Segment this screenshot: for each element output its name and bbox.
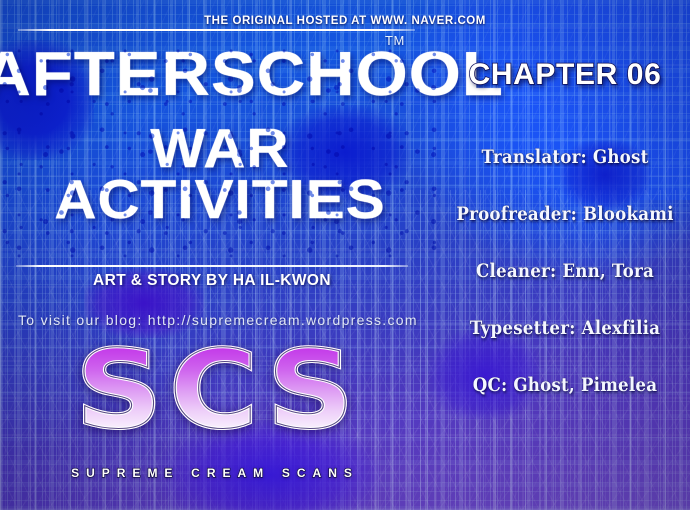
title-line-2: WAR ACTIVITIES — [0, 123, 453, 224]
credit-qc: QC: Ghost, Pimelea — [455, 374, 675, 396]
title-line-1: AFTERSCHOOL — [0, 46, 458, 103]
scs-logo-initials: SCS — [0, 332, 453, 452]
credit-proofreader: Proofreader: Blookami — [455, 203, 675, 225]
credits-list: Translator: Ghost Proofreader: Blookami … — [440, 146, 690, 396]
credit-translator: Translator: Ghost — [455, 146, 675, 168]
chapter-number-label: CHAPTER 06 — [440, 58, 690, 92]
title-block: AFTERSCHOOL WAR ACTIVITIES — [0, 46, 440, 224]
credit-cleaner: Cleaner: Enn, Tora — [455, 260, 675, 282]
scs-logo-subtitle: Supreme Cream Scans — [0, 462, 430, 482]
blog-url-text[interactable]: To visit our blog: http://supremecream.w… — [18, 312, 418, 328]
header-divider-rule — [18, 29, 415, 31]
credit-typesetter: Typesetter: Alexfilia — [455, 317, 675, 339]
author-byline: ART & STORY BY HA IL-KWON — [0, 272, 424, 290]
original-host-notice: THE ORIGINAL HOSTED AT WWW. NAVER.COM — [0, 15, 690, 27]
cover-page: THE ORIGINAL HOSTED AT WWW. NAVER.COM TM… — [0, 0, 690, 510]
byline-divider-rule — [16, 265, 408, 267]
